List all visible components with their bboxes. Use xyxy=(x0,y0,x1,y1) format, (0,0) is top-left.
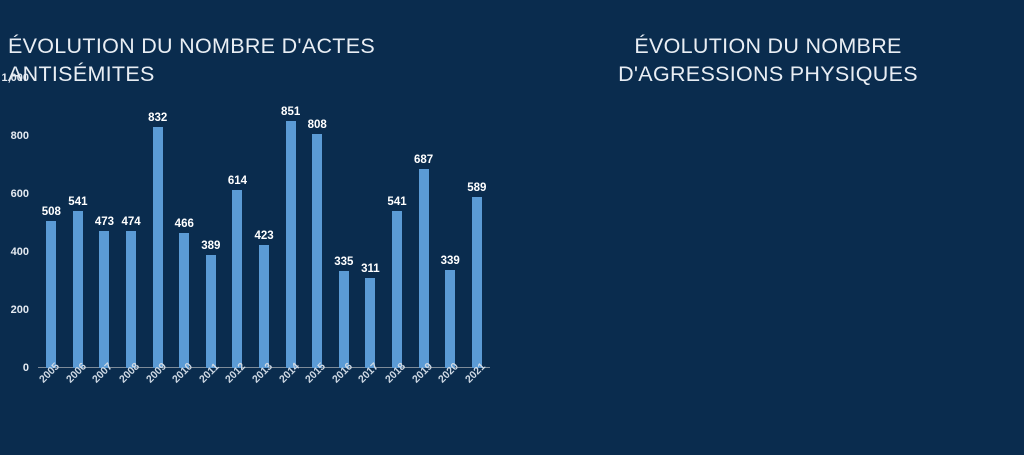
bar-group: 8512014 xyxy=(277,78,304,368)
bar[interactable]: 473 xyxy=(99,231,109,368)
bar-value-label: 339 xyxy=(441,255,460,267)
bar-group: 3392020 xyxy=(437,78,464,368)
x-axis-tick-label: 2019 xyxy=(410,360,435,385)
x-axis-tick-label: 2009 xyxy=(144,360,169,385)
x-axis-tick-label: 2006 xyxy=(64,360,89,385)
bar[interactable]: 832 xyxy=(153,127,163,368)
y-axis-tick-label: 400 xyxy=(11,246,38,258)
x-axis-tick-label: 2016 xyxy=(330,360,355,385)
x-axis-tick-label: 2017 xyxy=(356,360,381,385)
bar-group: 5892021 xyxy=(464,78,491,368)
bar-value-label: 335 xyxy=(334,256,353,268)
x-axis-tick-label: 2018 xyxy=(383,360,408,385)
y-axis-tick-label: 200 xyxy=(11,304,38,316)
infographic-canvas: ÉVOLUTION DU NOMBRE D'ACTES ANTISÉMITES … xyxy=(0,0,1024,455)
y-axis-tick-label: 600 xyxy=(11,188,38,200)
x-axis-tick-label: 2013 xyxy=(250,360,275,385)
x-axis-tick-label: 2008 xyxy=(117,360,142,385)
bar-group: 6142012 xyxy=(224,78,251,368)
x-axis-tick-label: 2010 xyxy=(170,360,195,385)
x-axis-tick-label: 2014 xyxy=(277,360,302,385)
bar[interactable]: 687 xyxy=(419,169,429,368)
chart-panel-actes-antisemites: ÉVOLUTION DU NOMBRE D'ACTES ANTISÉMITES … xyxy=(0,0,512,455)
bar-group: 6872019 xyxy=(410,78,437,368)
bar-value-label: 474 xyxy=(121,216,140,228)
bar-value-label: 508 xyxy=(42,206,61,218)
bar-value-label: 589 xyxy=(467,182,486,194)
chart-title-agressions-physiques: ÉVOLUTION DU NOMBRE D'AGRESSIONS PHYSIQU… xyxy=(552,32,984,89)
bar[interactable]: 474 xyxy=(126,231,136,368)
x-axis-tick-label: 2021 xyxy=(463,360,488,385)
bar[interactable]: 614 xyxy=(232,190,242,368)
bar[interactable]: 541 xyxy=(73,211,83,368)
y-axis-tick-label: 1,000 xyxy=(1,72,38,84)
bar-value-label: 389 xyxy=(201,240,220,252)
x-axis-tick-label: 2012 xyxy=(223,360,248,385)
plot-area-actes-antisemites: 02004006008001,000 508200554120064732007… xyxy=(38,78,490,368)
bar-group: 5412018 xyxy=(384,78,411,368)
bar-group: 8082015 xyxy=(304,78,331,368)
bar[interactable]: 808 xyxy=(312,134,322,368)
bar-value-label: 832 xyxy=(148,112,167,124)
bar[interactable]: 335 xyxy=(339,271,349,368)
x-axis-tick-label: 2011 xyxy=(197,361,222,386)
bar-group: 8322009 xyxy=(144,78,171,368)
bar[interactable]: 589 xyxy=(472,197,482,368)
bar-group: 4662010 xyxy=(171,78,198,368)
bar-value-label: 541 xyxy=(387,196,406,208)
x-axis-tick-label: 2007 xyxy=(90,360,115,385)
bar-group: 4742008 xyxy=(118,78,145,368)
bar-value-label: 687 xyxy=(414,154,433,166)
bar-group: 3352016 xyxy=(331,78,358,368)
bar[interactable]: 339 xyxy=(445,270,455,368)
bar-group: 4232013 xyxy=(251,78,278,368)
bar[interactable]: 851 xyxy=(286,121,296,368)
bar-group: 4732007 xyxy=(91,78,118,368)
bar-group: 5412006 xyxy=(65,78,92,368)
bar-series-actes-antisemites: 5082005541200647320074742008832200946620… xyxy=(38,78,490,368)
bar-value-label: 808 xyxy=(308,119,327,131)
bar-value-label: 614 xyxy=(228,175,247,187)
x-axis-tick-label: 2015 xyxy=(303,360,328,385)
y-axis-tick-label: 800 xyxy=(11,130,38,142)
bar[interactable]: 541 xyxy=(392,211,402,368)
bar-group: 5082005 xyxy=(38,78,65,368)
chart-panel-agressions-physiques: ÉVOLUTION DU NOMBRE D'AGRESSIONS PHYSIQU… xyxy=(512,0,1024,455)
bar[interactable]: 423 xyxy=(259,245,269,368)
bar[interactable]: 389 xyxy=(206,255,216,368)
y-axis-tick-label: 0 xyxy=(23,362,38,374)
x-axis-tick-label: 2020 xyxy=(436,360,461,385)
bar-value-label: 466 xyxy=(175,218,194,230)
x-axis-tick-label: 2005 xyxy=(37,360,62,385)
bar[interactable]: 311 xyxy=(365,278,375,368)
bar-value-label: 851 xyxy=(281,106,300,118)
bar-value-label: 311 xyxy=(361,263,380,275)
bar-value-label: 541 xyxy=(68,196,87,208)
bar-value-label: 423 xyxy=(254,230,273,242)
bar-group: 3112017 xyxy=(357,78,384,368)
bar-value-label: 473 xyxy=(95,216,114,228)
bar[interactable]: 508 xyxy=(46,221,56,368)
bar[interactable]: 466 xyxy=(179,233,189,368)
bar-group: 3892011 xyxy=(198,78,225,368)
